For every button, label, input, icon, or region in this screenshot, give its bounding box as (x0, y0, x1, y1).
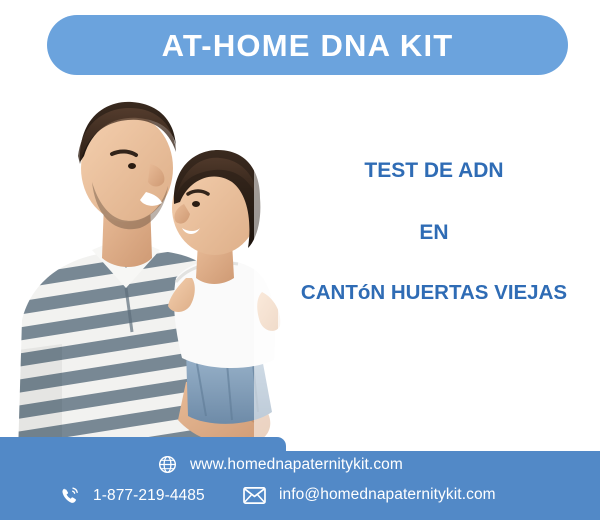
footer-email-text[interactable]: info@homednapaternitykit.com (279, 486, 496, 504)
headline-block: TEST DE ADN EN CANTóN HUERTAS VIEJAS (268, 160, 600, 304)
footer-phone-row[interactable]: 1-877-219-4485 (60, 486, 205, 506)
header-badge: AT-HOME DNA KIT (47, 15, 568, 75)
footer-email-row[interactable]: info@homednapaternitykit.com (243, 486, 496, 504)
globe-icon (158, 455, 177, 474)
header-badge-label: AT-HOME DNA KIT (162, 30, 454, 61)
poster-canvas: AT-HOME DNA KIT (0, 0, 600, 520)
phone-icon (60, 486, 80, 506)
footer-left-panel (0, 437, 286, 520)
headline-line-1: TEST DE ADN (268, 160, 600, 181)
footer-phone-text[interactable]: 1-877-219-4485 (93, 487, 205, 505)
footer-bar (0, 437, 600, 520)
headline-line-2: EN (268, 222, 600, 243)
envelope-icon (243, 487, 266, 504)
footer-website-text[interactable]: www.homednapaternitykit.com (190, 456, 403, 474)
headline-line-3: CANTóN HUERTAS VIEJAS (268, 283, 600, 304)
footer-website-row[interactable]: www.homednapaternitykit.com (158, 455, 403, 474)
